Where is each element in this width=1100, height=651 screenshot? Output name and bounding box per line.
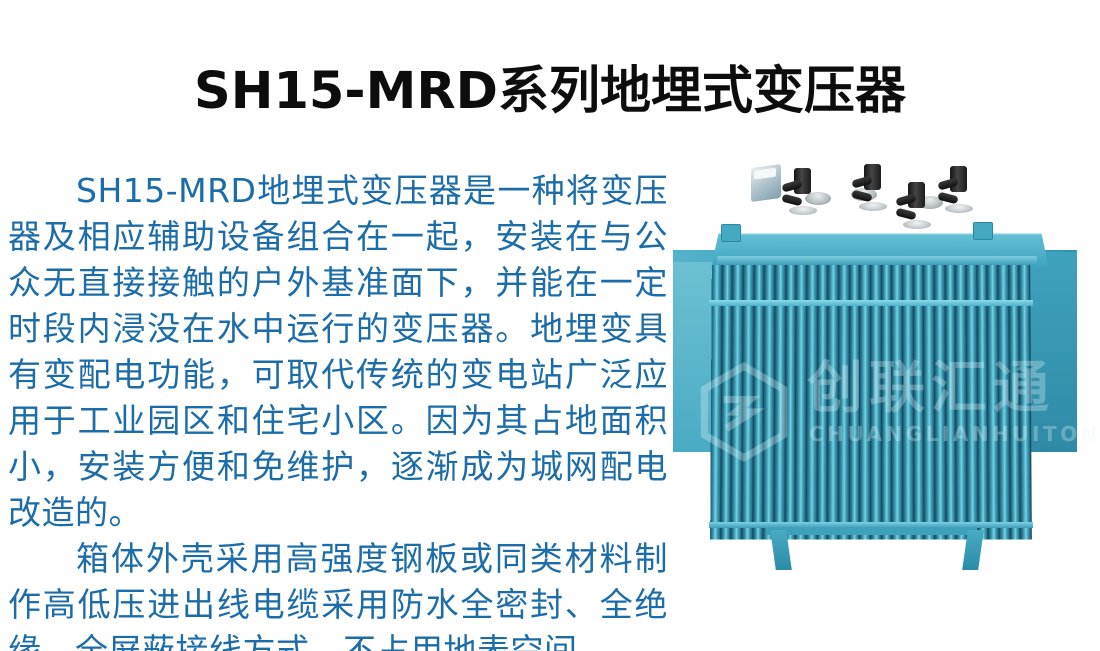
product-image: 创联汇通 CHUANGLIANHUITONG [655,152,1095,602]
bushing-flange [903,220,931,229]
page-title: SH15-MRD系列地埋式变压器 [0,62,1100,122]
description-paragraph-1: SH15-MRD地埋式变压器是一种将变压器及相应辅助设备组合在一起，安装在与公众… [8,168,668,536]
radiator-fin [935,265,946,540]
description-paragraph-2: 箱体外壳采用高强度钢板或同类材料制作高低压进出线电缆采用防水全密封、全绝缘、全屏… [8,536,668,651]
lv-bushing-1 [903,182,929,228]
control-box-lid [754,168,776,180]
transformer-tank-right [1025,252,1077,452]
radiator-fin [860,265,871,540]
bushing-flange [945,204,973,213]
radiator-fin [807,265,818,540]
radiator-fin [871,265,882,540]
radiator-fin [796,265,807,540]
radiator-fin [1020,265,1032,540]
bushing-flange [859,202,887,211]
radiator-fin [914,265,925,540]
top-rail [717,256,1037,265]
bushing-arm-lower [781,194,802,207]
transformer-illustration: 创联汇通 CHUANGLIANHUITONG [655,152,1095,602]
radiator-fin [892,265,903,540]
radiator-fin [839,265,850,540]
lifting-lug-right [973,222,993,240]
control-box [751,164,781,202]
hv-bushing-1 [789,168,815,214]
bushing-arm-lower [895,208,916,221]
radiator-fin [785,265,797,540]
hv-bushing-2 [859,164,885,210]
product-detail-banner: SH15-MRD系列地埋式变压器 SH15-MRD地埋式变压器是一种将变压器及相… [0,0,1100,651]
description-block: SH15-MRD地埋式变压器是一种将变压器及相应辅助设备组合在一起，安装在与公众… [8,168,668,651]
radiator-brace-upper [709,300,1033,306]
radiator-fin [828,265,839,540]
radiator-fin [924,265,935,540]
base-beam [767,528,977,535]
bushing-flange [789,206,817,215]
lifting-lug-left [721,224,741,242]
radiator-fin [882,265,893,540]
bushing-arm-lower [851,190,872,203]
radiator-fin-bank [710,265,1032,540]
radiator-fin [850,265,861,540]
radiator-fin [903,265,914,540]
radiator-fin [817,265,828,540]
lv-bushing-2 [945,166,971,212]
